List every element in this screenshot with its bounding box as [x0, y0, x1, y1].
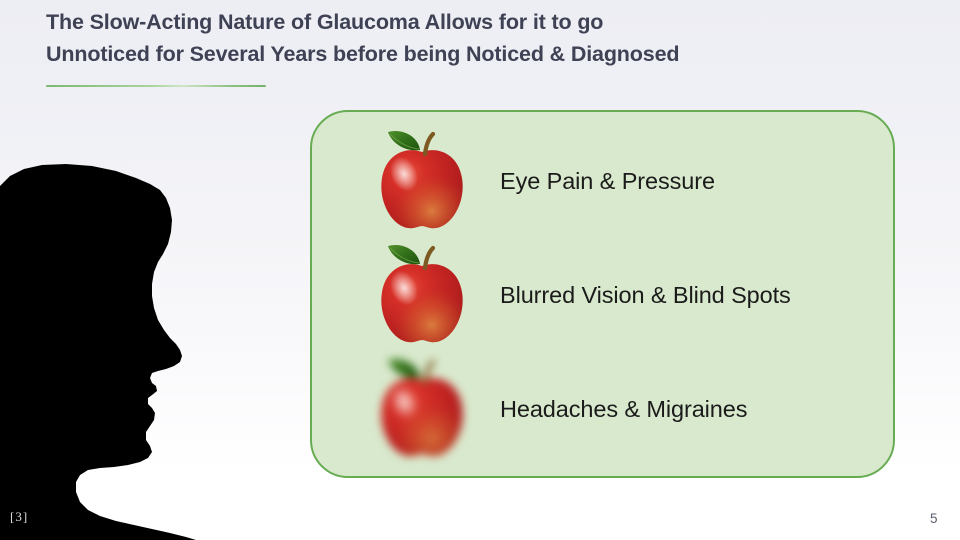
- page-title: The Slow-Acting Nature of Glaucoma Allow…: [46, 6, 906, 70]
- apple-icon: [362, 130, 482, 232]
- list-item: Eye Pain & Pressure: [312, 127, 893, 235]
- symptom-label: Eye Pain & Pressure: [500, 168, 715, 195]
- symptom-list: Eye Pain & Pressure: [312, 112, 893, 476]
- symptom-label: Blurred Vision & Blind Spots: [500, 282, 791, 309]
- title-underline-rule: [46, 85, 266, 87]
- symptom-label: Headaches & Migraines: [500, 396, 747, 423]
- slide-canvas: The Slow-Acting Nature of Glaucoma Allow…: [0, 0, 960, 540]
- silhouette-path: [0, 164, 196, 540]
- symptom-card: Eye Pain & Pressure: [310, 110, 895, 478]
- list-item: Headaches & Migraines: [312, 355, 893, 463]
- apple-blurred-icon: [362, 358, 482, 460]
- man-head-profile-silhouette: [0, 150, 320, 540]
- list-item: Blurred Vision & Blind Spots: [312, 241, 893, 349]
- title-block: The Slow-Acting Nature of Glaucoma Allow…: [46, 6, 906, 70]
- citation-marker: [3]: [10, 509, 28, 525]
- apple-icon: [362, 244, 482, 346]
- page-number: 5: [930, 511, 938, 526]
